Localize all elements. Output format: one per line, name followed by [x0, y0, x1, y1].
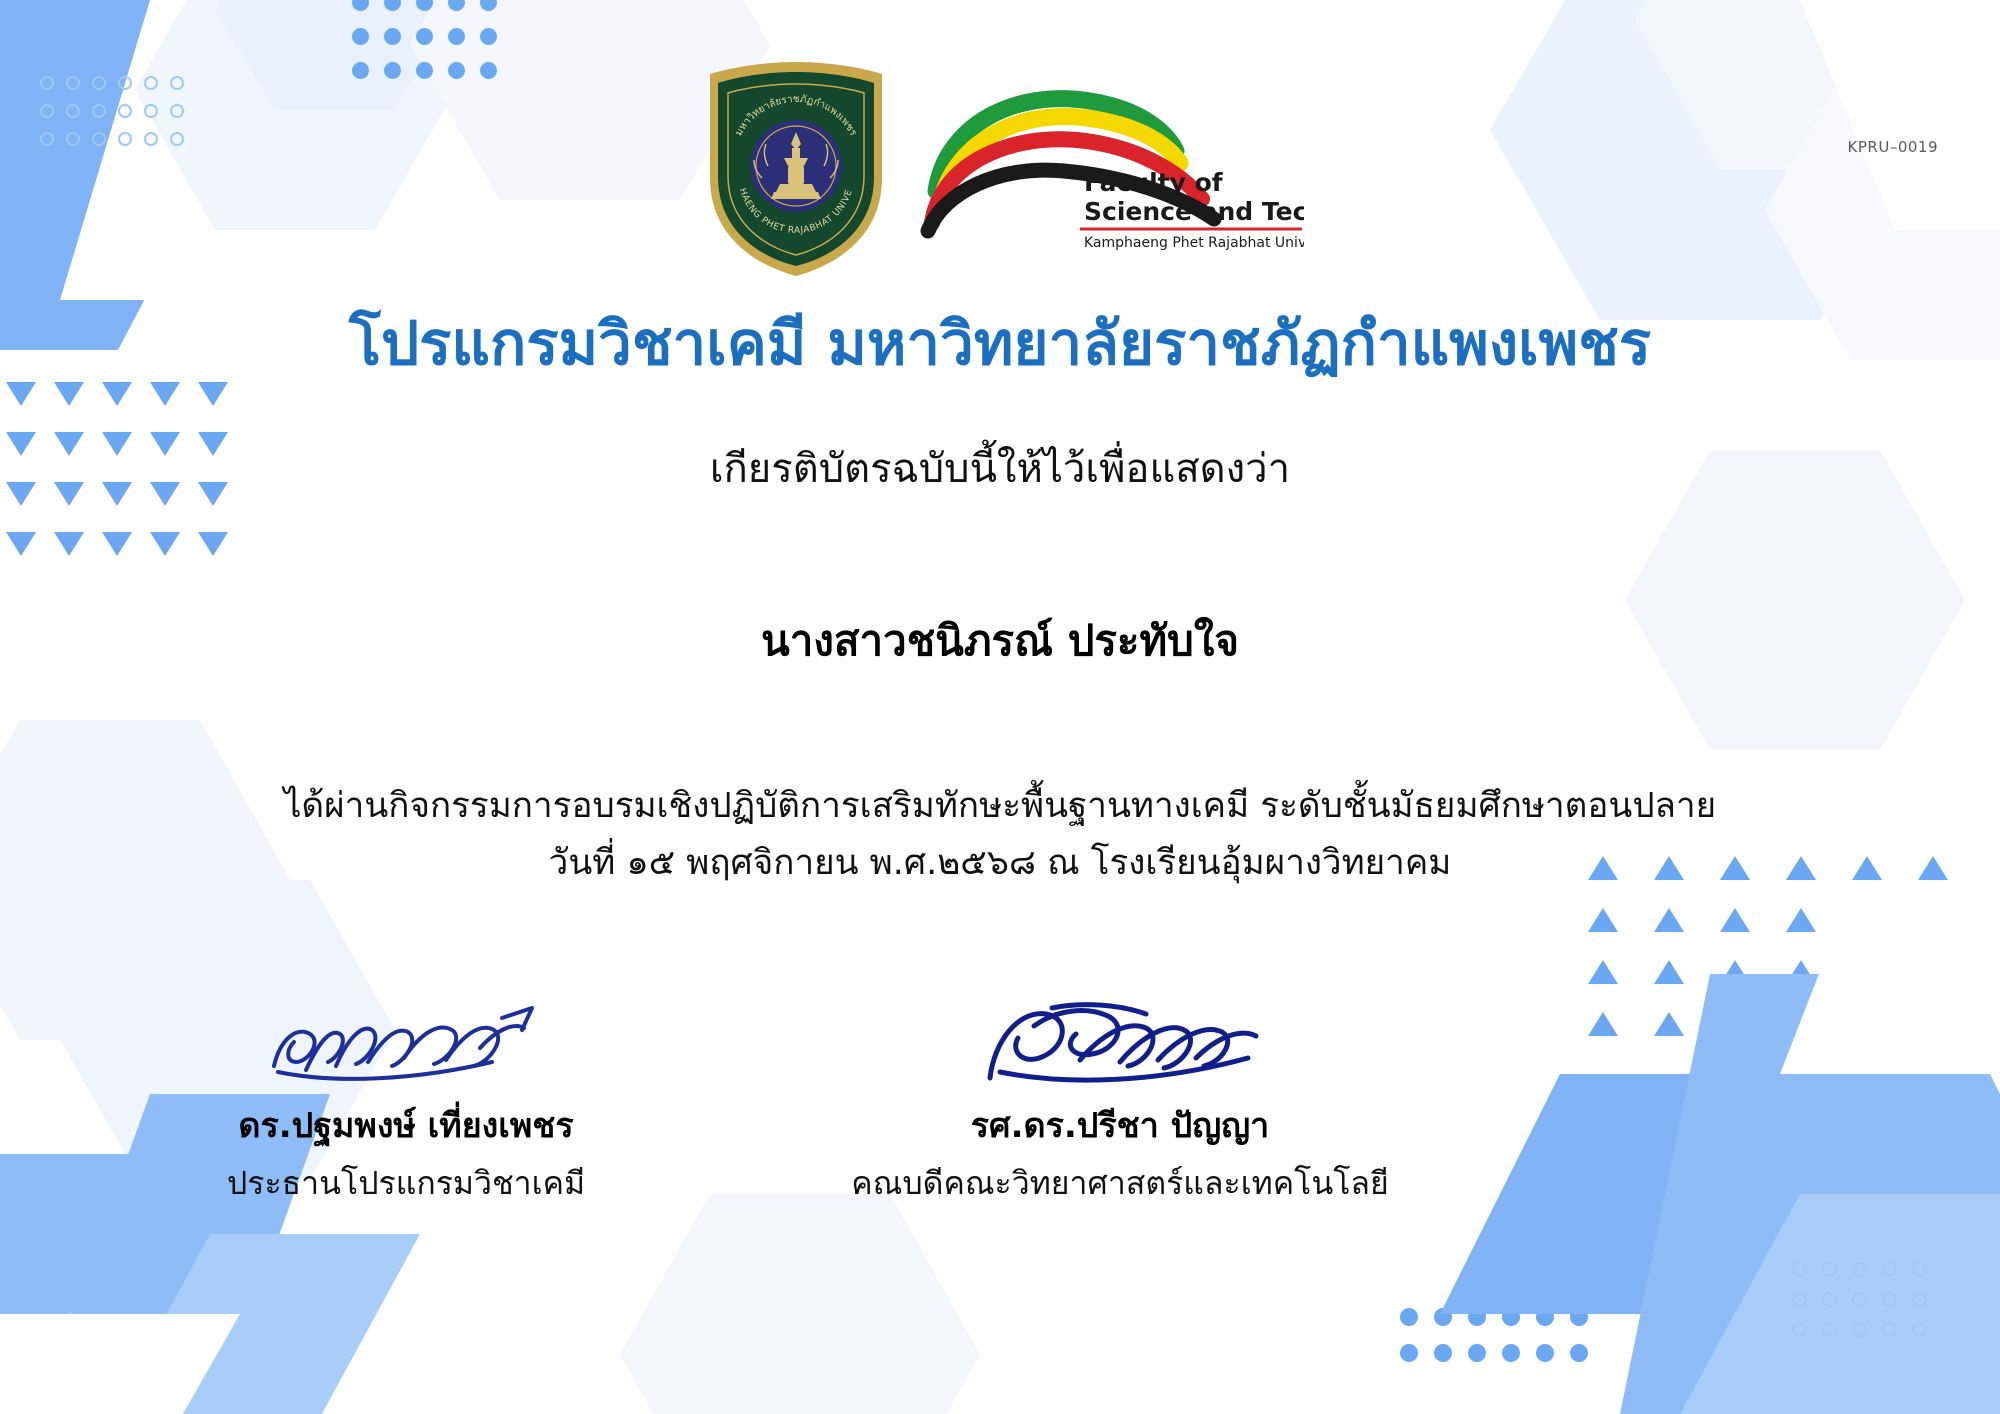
svg-text:Kamphaeng Phet Rajabhat Univer: Kamphaeng Phet Rajabhat University [1084, 235, 1304, 251]
certificate-page: KPRU–0019 [0, 0, 2000, 1414]
svg-text:Faculty of: Faculty of [1084, 168, 1224, 197]
handwritten-signature-icon [960, 1000, 1280, 1092]
certificate-title: โปรแกรมวิชาเคมี มหาวิทยาลัยราชภัฏกำแพงเพ… [0, 310, 2000, 379]
svg-text:Science and Technology: Science and Technology [1084, 197, 1304, 226]
signature-name-right: รศ.ดร.ปรีชา ปัญญา [840, 1098, 1400, 1152]
certificate-subtitle: เกียรติบัตรฉบับนี้ให้ไว้เพื่อแสดงว่า [0, 445, 2000, 493]
body-line-2: วันที่ ๑๕ พฤศจิกายน พ.ศ.๒๕๖๘ ณ โรงเรียนอ… [0, 835, 2000, 892]
logo-row: มหาวิทยาลัยราชภัฏกำแพงเพชร KAMPHAENG PHE… [0, 58, 2000, 280]
certificate-body: ได้ผ่านกิจกรรมการอบรมเชิงปฏิบัติการเสริม… [0, 778, 2000, 891]
signature-role-right: คณบดีคณะวิทยาศาสตร์และเทคโนโลยี [840, 1158, 1400, 1209]
signature-role-left: ประธานโปรแกรมวิชาเคมี [126, 1158, 686, 1209]
recipient-name: นางสาวชนิภรณ์ ประทับใจ [0, 608, 2000, 674]
body-line-1: ได้ผ่านกิจกรรมการอบรมเชิงปฏิบัติการเสริม… [0, 778, 2000, 835]
signature-image-right [840, 1000, 1400, 1092]
signature-block-left: ดร.ปฐมพงษ์ เที่ยงเพชร ประธานโปรแกรมวิชาเ… [126, 1000, 686, 1209]
signature-name-left: ดร.ปฐมพงษ์ เที่ยงเพชร [126, 1098, 686, 1152]
signature-image-left [126, 1000, 686, 1092]
handwritten-signature-icon [256, 1000, 556, 1092]
kpru-university-seal-icon: มหาวิทยาลัยราชภัฏกำแพงเพชร KAMPHAENG PHE… [696, 58, 896, 280]
faculty-science-technology-logo-icon: Faculty of Science and Technology Kampha… [914, 79, 1304, 259]
signature-block-right: รศ.ดร.ปรีชา ปัญญา คณบดีคณะวิทยาศาสตร์และ… [840, 1000, 1400, 1209]
